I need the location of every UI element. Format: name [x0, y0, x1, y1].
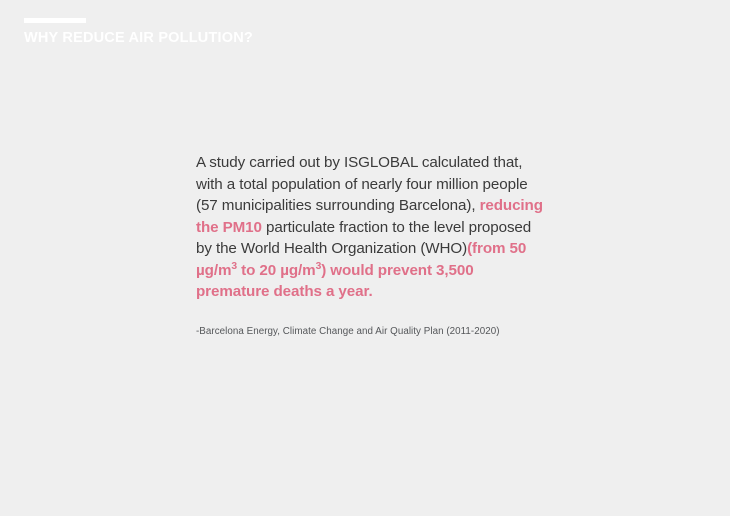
slide-canvas: WHY REDUCE AIR POLLUTION? A study carrie… — [0, 0, 730, 516]
title-rule-decoration — [24, 18, 86, 23]
page-title: WHY REDUCE AIR POLLUTION? — [24, 31, 584, 47]
paragraph-highlight-to-value: to 20 µg/m — [237, 262, 316, 279]
slide-header: WHY REDUCE AIR POLLUTION? — [24, 18, 584, 47]
paragraph-segment-plain-1: A study carried out by ISGLOBAL calculat… — [196, 154, 528, 214]
body-paragraph: A study carried out by ISGLOBAL calculat… — [196, 152, 544, 303]
source-citation: -Barcelona Energy, Climate Change and Ai… — [196, 325, 546, 339]
content-block: A study carried out by ISGLOBAL calculat… — [196, 152, 544, 339]
